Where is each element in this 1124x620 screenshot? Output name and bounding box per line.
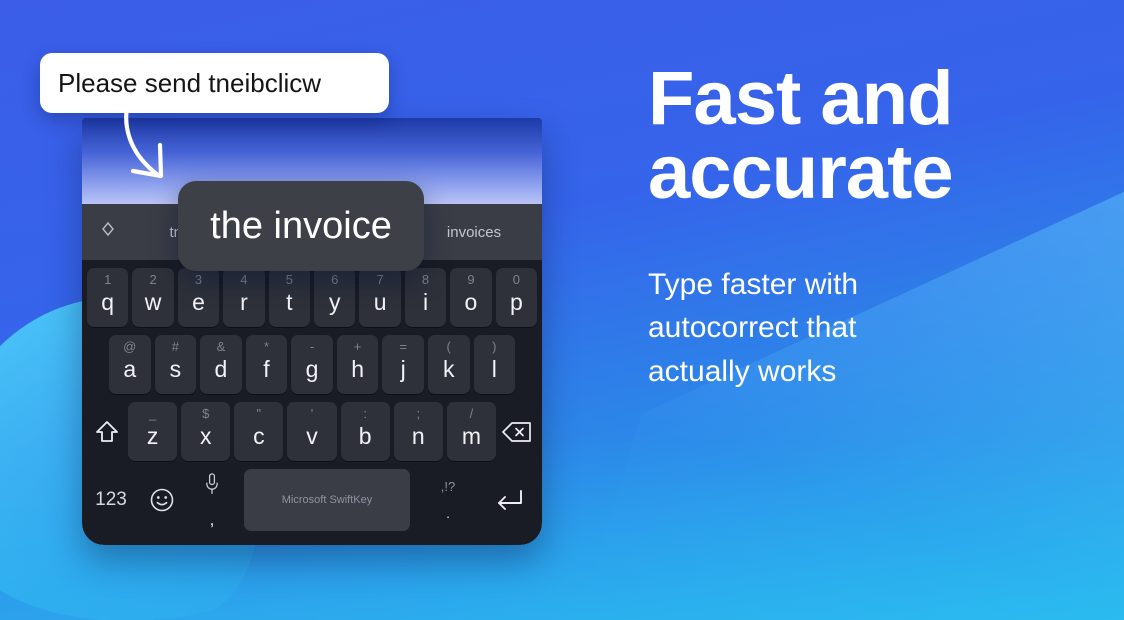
backspace-icon[interactable] bbox=[500, 402, 534, 461]
key-b[interactable]: :b bbox=[341, 402, 390, 461]
key-alt-label: 6 bbox=[314, 273, 355, 286]
key-label: d bbox=[215, 358, 228, 394]
key-alt-label: + bbox=[337, 340, 379, 353]
key-label: a bbox=[123, 358, 136, 394]
key-label: v bbox=[306, 425, 318, 461]
enter-return-icon[interactable] bbox=[478, 469, 538, 531]
key-j[interactable]: =j bbox=[382, 335, 424, 394]
key-alt-label: 1 bbox=[87, 273, 128, 286]
key-label: z bbox=[147, 425, 159, 461]
key-alt-label: 4 bbox=[223, 273, 264, 286]
key-label: y bbox=[329, 291, 341, 327]
key-v[interactable]: 'v bbox=[287, 402, 336, 461]
key-alt-label: * bbox=[246, 340, 288, 353]
key-o[interactable]: 9o bbox=[450, 268, 491, 327]
key-label: k bbox=[443, 358, 455, 394]
keyboard-row-2: @a #s &d *f -g +h =j (k )l bbox=[85, 331, 539, 398]
key-label: w bbox=[145, 291, 162, 327]
key-n[interactable]: ;n bbox=[394, 402, 443, 461]
headline: Fast and accurate bbox=[648, 62, 1068, 211]
keyboard-row-3: _z $x "c 'v :b ;n /m bbox=[85, 398, 539, 465]
key-label: n bbox=[412, 425, 425, 461]
keyboard-row-bottom: 123 bbox=[82, 465, 542, 535]
key-s[interactable]: #s bbox=[155, 335, 197, 394]
key-alt-label: 2 bbox=[132, 273, 173, 286]
autocorrect-suggestion-popup[interactable]: the invoice bbox=[178, 181, 424, 271]
suggestion-item-3[interactable]: invoices bbox=[406, 224, 542, 241]
key-alt-label: " bbox=[234, 407, 283, 420]
microphone-icon bbox=[205, 473, 219, 499]
shift-arrow-icon[interactable] bbox=[90, 402, 124, 461]
key-p[interactable]: 0p bbox=[496, 268, 537, 327]
key-z[interactable]: _z bbox=[128, 402, 177, 461]
speech-bubble: Please send tneibclicw bbox=[40, 53, 389, 113]
punctuation-label: ,!? bbox=[441, 480, 455, 493]
key-e[interactable]: 3e bbox=[178, 268, 219, 327]
key-alt-label: ; bbox=[394, 407, 443, 420]
key-spacebar[interactable]: Microsoft SwiftKey bbox=[244, 469, 410, 531]
key-g[interactable]: -g bbox=[291, 335, 333, 394]
key-label: o bbox=[465, 291, 478, 327]
key-x[interactable]: $x bbox=[181, 402, 230, 461]
key-alt-label: @ bbox=[109, 340, 151, 353]
key-alt-label: ' bbox=[287, 407, 336, 420]
marketing-copy: Fast and accurate Type faster with autoc… bbox=[648, 62, 1068, 393]
key-label: m bbox=[462, 425, 481, 461]
key-label: p bbox=[510, 291, 523, 327]
key-alt-label: 0 bbox=[496, 273, 537, 286]
key-numeric-switch[interactable]: 123 bbox=[86, 469, 136, 531]
subcopy: Type faster with autocorrect that actual… bbox=[648, 263, 1068, 394]
key-label: l bbox=[492, 358, 497, 394]
key-h[interactable]: +h bbox=[337, 335, 379, 394]
key-alt-label: _ bbox=[128, 407, 177, 420]
key-microphone-comma[interactable]: , bbox=[188, 469, 236, 531]
key-f[interactable]: *f bbox=[246, 335, 288, 394]
key-label: x bbox=[200, 425, 212, 461]
key-alt-label: & bbox=[200, 340, 242, 353]
key-alt-label: / bbox=[447, 407, 496, 420]
key-r[interactable]: 4r bbox=[223, 268, 264, 327]
autocorrect-popup-text: the invoice bbox=[210, 205, 392, 248]
key-l[interactable]: )l bbox=[474, 335, 516, 394]
key-alt-label: # bbox=[155, 340, 197, 353]
key-label: g bbox=[306, 358, 319, 394]
key-k[interactable]: (k bbox=[428, 335, 470, 394]
keyboard-row-1: 1q 2w 3e 4r 5t 6y 7u 8i 9o 0p bbox=[85, 264, 539, 331]
comma-label: , bbox=[210, 511, 215, 528]
keyboard-rows: 1q 2w 3e 4r 5t 6y 7u 8i 9o 0p @a #s &d *… bbox=[82, 260, 542, 465]
speech-bubble-text: Please send tneibclicw bbox=[40, 68, 321, 99]
key-label: u bbox=[374, 291, 387, 327]
key-d[interactable]: &d bbox=[200, 335, 242, 394]
key-alt-label: 5 bbox=[269, 273, 310, 286]
key-alt-label: = bbox=[382, 340, 424, 353]
chevron-expand-icon[interactable] bbox=[82, 220, 134, 244]
key-c[interactable]: "c bbox=[234, 402, 283, 461]
key-label: h bbox=[351, 358, 364, 394]
period-label: . bbox=[446, 507, 450, 520]
key-label: q bbox=[101, 291, 114, 327]
key-label: c bbox=[253, 425, 265, 461]
key-a[interactable]: @a bbox=[109, 335, 151, 394]
key-i[interactable]: 8i bbox=[405, 268, 446, 327]
key-label: b bbox=[359, 425, 372, 461]
key-w[interactable]: 2w bbox=[132, 268, 173, 327]
key-q[interactable]: 1q bbox=[87, 268, 128, 327]
key-alt-label: 9 bbox=[450, 273, 491, 286]
key-label: s bbox=[170, 358, 182, 394]
key-u[interactable]: 7u bbox=[359, 268, 400, 327]
key-label: i bbox=[423, 291, 428, 327]
key-alt-label: : bbox=[341, 407, 390, 420]
key-punctuation-period[interactable]: ,!? . bbox=[418, 469, 478, 531]
key-alt-label: 7 bbox=[359, 273, 400, 286]
smiley-face-icon[interactable] bbox=[136, 469, 188, 531]
key-y[interactable]: 6y bbox=[314, 268, 355, 327]
key-m[interactable]: /m bbox=[447, 402, 496, 461]
key-label: f bbox=[263, 358, 269, 394]
key-label: r bbox=[240, 291, 248, 327]
key-label: t bbox=[286, 291, 292, 327]
key-alt-label: $ bbox=[181, 407, 230, 420]
key-label: e bbox=[192, 291, 205, 327]
key-t[interactable]: 5t bbox=[269, 268, 310, 327]
key-alt-label: 3 bbox=[178, 273, 219, 286]
key-alt-label: 8 bbox=[405, 273, 446, 286]
key-alt-label: - bbox=[291, 340, 333, 353]
key-alt-label: ( bbox=[428, 340, 470, 353]
key-alt-label: ) bbox=[474, 340, 516, 353]
key-label: j bbox=[401, 358, 406, 394]
promo-banner: tneibclicw the invoice invoices 1q 2w 3e… bbox=[0, 0, 1124, 620]
